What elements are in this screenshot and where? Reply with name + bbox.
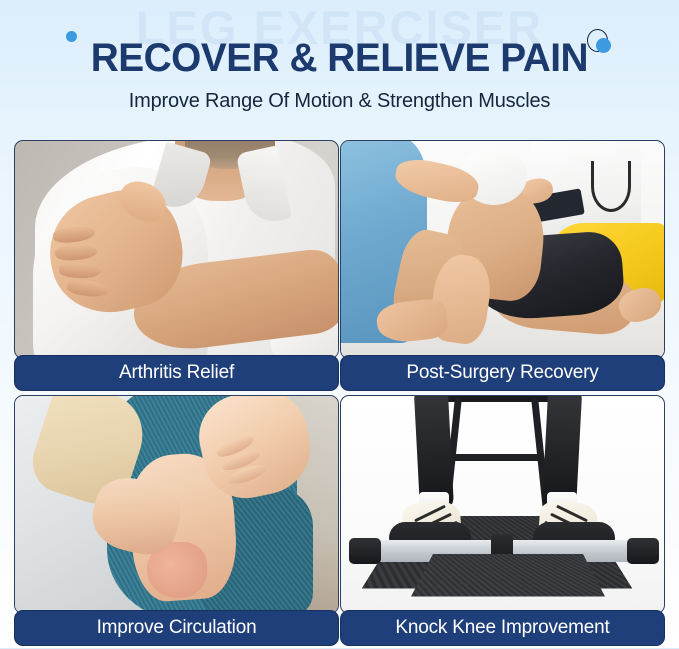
feature-grid: Arthritis Relief Post-Surgery Recovery [14,140,665,649]
post-surgery-recovery-photo [340,140,665,359]
knock-knee-improvement-photo [340,395,665,614]
rail-end-cap-shape [627,538,659,564]
page-title: RECOVER & RELIEVE PAIN [91,36,588,80]
feature-card-arthritis-relief[interactable]: Arthritis Relief [14,140,339,391]
feature-card-knock-knee-improvement[interactable]: Knock Knee Improvement [340,395,665,646]
feature-card-improve-circulation[interactable]: Improve Circulation [14,395,339,646]
feature-card-caption: Knock Knee Improvement [340,610,665,646]
stethoscope-icon [591,161,631,212]
feature-card-caption: Arthritis Relief [14,355,339,391]
title-container: RECOVER & RELIEVE PAIN [0,36,679,84]
page-header: LEG EXERCISER RECOVER & RELIEVE PAIN Imp… [0,0,679,132]
floor-mat-front-shape [411,554,605,597]
accent-circle-icon [596,38,611,53]
feature-card-caption: Post-Surgery Recovery [340,355,665,391]
improve-circulation-photo [14,395,339,614]
finger-shape [59,262,101,278]
accent-dot-icon [66,31,77,42]
feature-card-caption: Improve Circulation [14,610,339,646]
page-subtitle: Improve Range Of Motion & Strengthen Mus… [0,88,679,114]
feature-card-post-surgery-recovery[interactable]: Post-Surgery Recovery [340,140,665,391]
arthritis-relief-photo [14,140,339,359]
stool-rung-shape [451,454,543,461]
rail-end-cap-shape [349,538,381,564]
